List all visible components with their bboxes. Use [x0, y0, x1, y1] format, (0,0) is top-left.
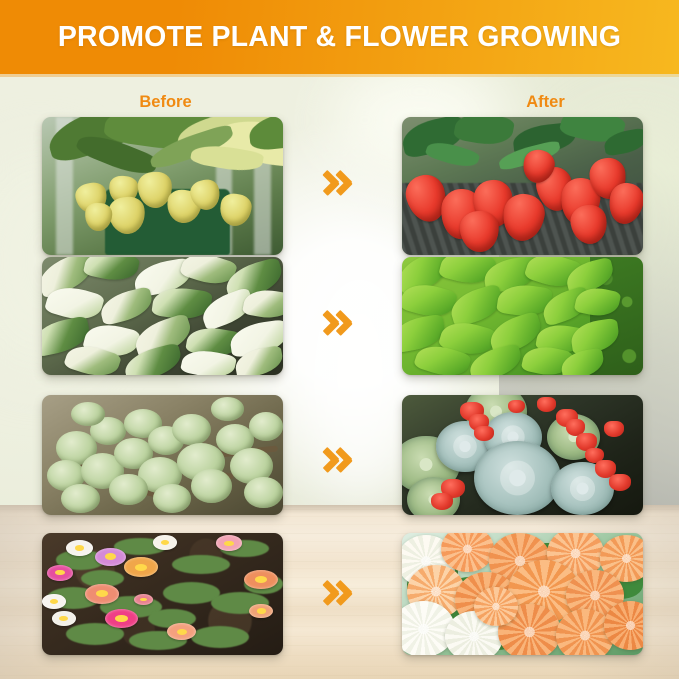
banner-title: PROMOTE PLANT & FLOWER GROWING [0, 0, 679, 74]
pale-succulent-rosette [244, 477, 283, 508]
abundant-dahlias [402, 533, 643, 655]
red-flower-spike [508, 400, 525, 413]
pale-succulent-rosette [153, 484, 192, 513]
poster: PROMOTE PLANT & FLOWER GROWING Before Af… [0, 0, 679, 679]
pale-succulent-rosette [211, 397, 245, 421]
portulaca-flower [124, 557, 158, 577]
double-chevron-right-icon [324, 300, 364, 346]
red-flower-spike [431, 493, 453, 510]
sparse-portulaca-art [42, 533, 283, 655]
pale-succulent-rosette [71, 402, 105, 426]
portulaca-flower [66, 540, 93, 556]
abundant-dahlias-art [402, 533, 643, 655]
colorful-echeveria-art [402, 395, 643, 515]
sparse-portulaca [42, 533, 283, 655]
pale-succulent-rosette [172, 414, 211, 445]
red-flower-spike [604, 421, 623, 437]
chevron-2 [338, 160, 355, 206]
pale-succulent-rosette [249, 412, 283, 441]
portulaca-flower [134, 594, 153, 605]
unripe-strawberries [42, 117, 283, 255]
chevron-2 [338, 570, 355, 616]
foliage [191, 626, 249, 648]
ripe-strawberries-art [402, 117, 643, 255]
chevron-2 [338, 300, 355, 346]
portulaca-flower [47, 565, 74, 581]
colorful-echeveria [402, 395, 643, 515]
chevron-2 [338, 437, 355, 483]
after-column-label: After [508, 93, 583, 112]
red-flower-spike [609, 474, 631, 491]
portulaca-flower [52, 611, 76, 626]
pale-succulents-art [42, 395, 283, 515]
lush-green-pothos-art [402, 257, 643, 375]
portulaca-flower [85, 584, 119, 604]
variegated-leaf [97, 286, 155, 326]
double-chevron-right-icon [324, 437, 364, 483]
banner-underline [0, 74, 679, 77]
header-banner: PROMOTE PLANT & FLOWER GROWING [0, 0, 679, 74]
variegated-pale-pothos-art [42, 257, 283, 375]
portulaca-flower [42, 594, 66, 609]
portulaca-flower [95, 548, 126, 566]
pale-succulent-rosette [191, 469, 232, 503]
pale-succulents [42, 395, 283, 515]
pale-succulent-rosette [109, 474, 148, 505]
variegated-pale-pothos [42, 257, 283, 375]
double-chevron-right-icon [324, 570, 364, 616]
variegated-leaf [83, 257, 141, 286]
dahlia-bloom [474, 587, 517, 626]
ripe-strawberries [402, 117, 643, 255]
red-flower-spike [537, 397, 556, 411]
echeveria-rosette-main [474, 441, 561, 515]
double-chevron-right-icon [324, 160, 364, 206]
portulaca-flower [244, 570, 278, 590]
lush-green-pothos [402, 257, 643, 375]
before-column-label: Before [128, 93, 203, 112]
pale-succulent-rosette [61, 484, 100, 513]
red-flower-spike [474, 426, 493, 440]
strawberry-leaf [453, 117, 515, 149]
portulaca-flower [153, 535, 177, 550]
unripe-strawberries-art [42, 117, 283, 255]
